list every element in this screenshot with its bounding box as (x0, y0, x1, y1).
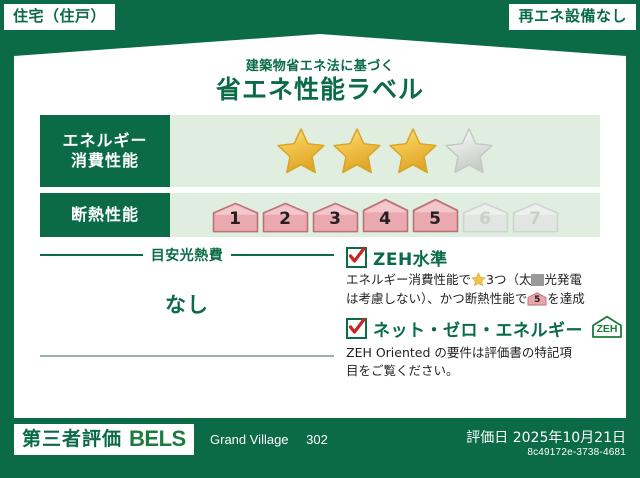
rule-left (40, 254, 143, 256)
energy-performance-label: エネルギー 消費性能 (40, 115, 170, 187)
zeh-desc-part5: を達成 (547, 291, 585, 306)
net-zero-energy-header: ネット・ゼロ・エネルギー ZEH ZEH Oriented (346, 315, 640, 343)
insulation-label-text: 断熱性能 (71, 205, 139, 225)
insulation-level-number: 4 (379, 211, 391, 233)
energy-performance-row: エネルギー 消費性能 (40, 115, 600, 187)
building-identity: Grand Village 302 (210, 432, 328, 447)
lower-section: 目安光熱費 なし ZEH水準 (40, 245, 600, 387)
star-filled-icon (331, 126, 383, 176)
zeh-oriented-line2: Oriented (631, 328, 640, 333)
insulation-level-badge-active: 1 (212, 202, 259, 233)
zeh-house-logo-icon: ZEH (590, 315, 624, 343)
footer: 第三者評価 BELS Grand Village 302 評価日 2025年10… (0, 418, 640, 478)
evaluation-date: 評価日 2025年10月21日 (466, 427, 626, 447)
zeh-standard-header: ZEH水準 (346, 245, 640, 270)
inline-level-badge: 5 (527, 292, 547, 306)
bels-jp-label: 第三者評価 (22, 430, 122, 449)
bels-evaluation-tag: 第三者評価 BELS (14, 424, 194, 455)
insulation-performance-label: 断熱性能 (40, 193, 170, 237)
insulation-level-number: 1 (229, 211, 241, 233)
insulation-level-scale: 1234567 (170, 193, 600, 237)
checkbox-checked-icon[interactable] (346, 318, 367, 339)
insulation-level-number: 7 (529, 211, 541, 233)
page-title: 省エネ性能ラベル (30, 76, 610, 105)
utility-cost-panel: 目安光熱費 なし (40, 245, 340, 387)
utility-cost-bottom-rule (40, 355, 334, 357)
zeh-desc-part4: は考慮しない）、かつ断熱性能で (346, 291, 527, 306)
svg-text:ZEH: ZEH (597, 323, 618, 335)
star-filled-icon (387, 126, 439, 176)
zeh-standard-description: エネルギー消費性能で3つ（太光発電 は考慮しない）、かつ断熱性能で5を達成 (346, 271, 640, 309)
utility-cost-heading-text: 目安光熱費 (151, 245, 224, 265)
insulation-performance-row: 断熱性能 1234567 (40, 193, 600, 237)
utility-cost-heading: 目安光熱費 (40, 245, 334, 265)
insulation-level-number: 2 (279, 211, 291, 233)
label-subtitle: 建築物省エネ法に基づく (30, 60, 610, 74)
bels-en-label: BELS (129, 428, 186, 450)
zeh-oriented-sublabel: ZEH Oriented (631, 324, 640, 333)
star-empty-icon (443, 126, 495, 176)
net-zero-desc-part2: 目をご覧ください。 (346, 363, 459, 378)
label-type-tag: 住宅（住戸） (4, 4, 115, 30)
insulation-level-badge-active: 4 (362, 198, 409, 233)
insulation-level-badge-active: 2 (262, 202, 309, 233)
zeh-desc-part1: エネルギー消費性能で (346, 272, 471, 287)
redaction-block (531, 274, 544, 286)
insulation-level-number: 6 (479, 211, 491, 233)
checkbox-checked-icon[interactable] (346, 247, 367, 268)
zeh-standard-title: ZEH水準 (373, 245, 448, 270)
insulation-level-badge-active: 3 (312, 202, 359, 233)
rule-right (231, 254, 334, 256)
zeh-standard-check-item: ZEH水準 エネルギー消費性能で3つ（太光発電 は考慮しない）、かつ断熱性能で5… (346, 245, 640, 309)
insulation-level-badge-active: 5 (412, 198, 459, 233)
star-filled-icon (275, 126, 327, 176)
zeh-oriented-line1: ZEH (631, 323, 640, 328)
insulation-level-number: 5 (429, 211, 441, 233)
zeh-desc-part3: 光発電 (544, 272, 582, 287)
utility-cost-value: なし (40, 265, 334, 341)
evaluation-id: 8c49172e-3738-4681 (527, 447, 626, 458)
net-zero-desc-part1: ZEH Oriented の要件は評価書の特記項 (346, 345, 572, 360)
zeh-desc-part2: 3つ（太 (486, 272, 531, 287)
insulation-level-badge-inactive: 7 (512, 202, 559, 233)
building-unit-number: 302 (306, 432, 328, 447)
insulation-level-number: 3 (329, 211, 341, 233)
building-name: Grand Village (210, 432, 289, 447)
energy-label-line1: エネルギー (62, 131, 147, 151)
energy-star-rating (170, 115, 600, 187)
net-zero-energy-description: ZEH Oriented の要件は評価書の特記項 目をご覧ください。 (346, 344, 640, 382)
net-zero-energy-title: ネット・ゼロ・エネルギー (373, 316, 583, 341)
inline-level-badge-number: 5 (527, 296, 547, 305)
insulation-level-badge-inactive: 6 (462, 202, 509, 233)
net-zero-energy-check-item: ネット・ゼロ・エネルギー ZEH ZEH Oriented (346, 315, 640, 382)
renewable-energy-tag: 再エネ設備なし (509, 4, 636, 30)
energy-label-line2: 消費性能 (71, 151, 139, 171)
label-sheet: 建築物省エネ法に基づく 省エネ性能ラベル エネルギー 消費性能 断熱性能 123… (14, 34, 626, 418)
certification-checks-panel: ZEH水準 エネルギー消費性能で3つ（太光発電 は考慮しない）、かつ断熱性能で5… (340, 245, 640, 387)
inline-star-icon (471, 272, 486, 287)
